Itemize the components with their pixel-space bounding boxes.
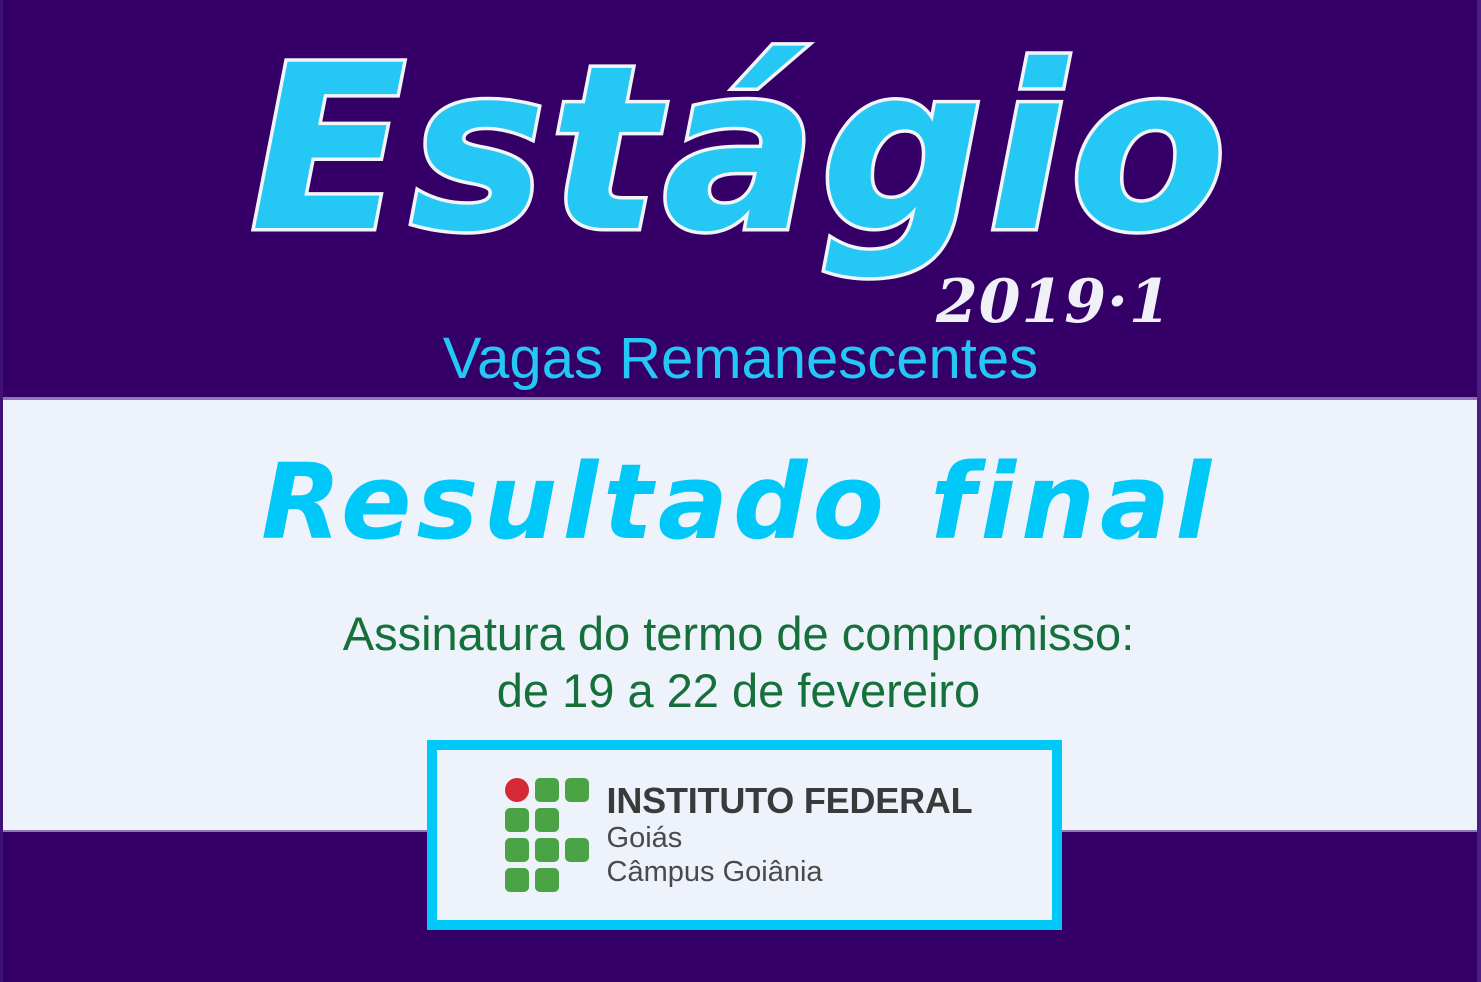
logo-cell-r4c2 bbox=[535, 868, 559, 892]
logo-cell-r2c3-blank bbox=[565, 808, 589, 832]
institution-state: Goiás bbox=[607, 821, 973, 855]
institution-name: INSTITUTO FEDERAL bbox=[607, 781, 973, 821]
logo-cell-r3c2 bbox=[535, 838, 559, 862]
institution-logo-card: INSTITUTO FEDERAL Goiás Câmpus Goiânia bbox=[427, 740, 1062, 930]
signing-notice-line-1: Assinatura do termo de compromisso: bbox=[0, 605, 1477, 662]
logo-cell-r3c1 bbox=[505, 838, 529, 862]
institution-wordmark: INSTITUTO FEDERAL Goiás Câmpus Goiânia bbox=[607, 781, 973, 890]
poster-canvas: Estágio 2019·1 Vagas Remanescentes Resul… bbox=[0, 0, 1481, 982]
edition-label: 2019·1 bbox=[936, 272, 1172, 332]
signing-notice: Assinatura do termo de compromisso: de 1… bbox=[0, 605, 1477, 720]
poster-subtitle: Vagas Remanescentes bbox=[0, 330, 1481, 388]
institution-campus: Câmpus Goiânia bbox=[607, 855, 973, 889]
logo-cell-r4c1 bbox=[505, 868, 529, 892]
logo-cell-r1c2 bbox=[535, 778, 559, 802]
result-heading: Resultado final bbox=[0, 448, 1477, 557]
instituto-federal-grid-icon bbox=[505, 778, 589, 892]
logo-cell-r4c3-blank bbox=[565, 868, 589, 892]
logo-cell-r1c3 bbox=[565, 778, 589, 802]
logo-cell-r2c1 bbox=[505, 808, 529, 832]
logo-cell-r2c2 bbox=[535, 808, 559, 832]
signing-notice-line-2: de 19 a 22 de fevereiro bbox=[0, 662, 1477, 719]
logo-cell-r3c3 bbox=[565, 838, 589, 862]
institution-logo: INSTITUTO FEDERAL Goiás Câmpus Goiânia bbox=[505, 778, 973, 892]
logo-cell-r1c1-dot bbox=[505, 778, 529, 802]
poster-title: Estágio bbox=[0, 30, 1481, 269]
